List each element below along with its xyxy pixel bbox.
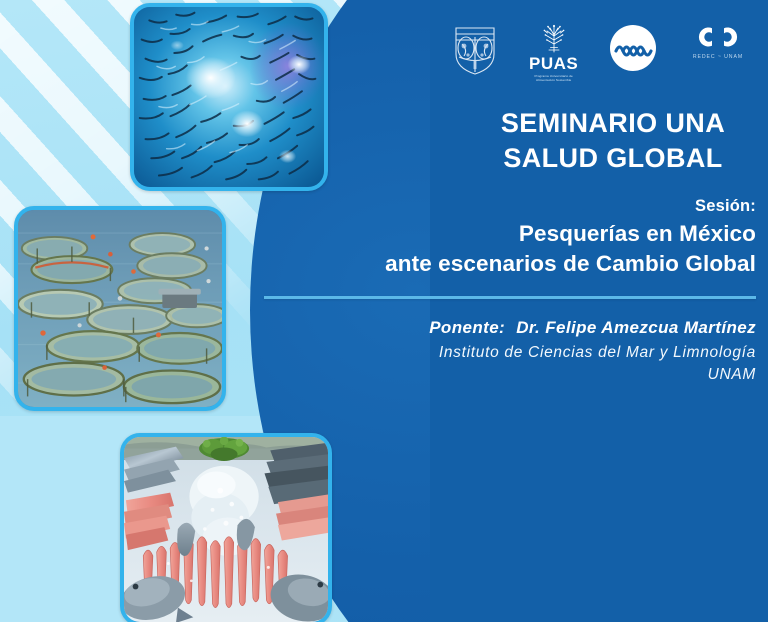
session-label: Sesión: [256,197,756,216]
speaker-institute: Instituto de Ciencias del Mar y Limnolog… [256,344,756,362]
session-title-line-1: Pesquerías en México [256,219,756,249]
puas-logo: PUAS Programa Universitario de Alimentac… [525,24,583,82]
speaker-name: Dr. Felipe Amezcua Martínez [510,318,756,337]
puas-subtitle: Programa Universitario de Alimentación S… [527,74,581,82]
speaker-role-label: Ponente: [429,318,505,337]
waves-circle-logo [609,24,657,72]
puas-wordmark: PUAS [529,55,578,72]
photo-school-of-sardines [130,3,328,191]
session-title-line-2: ante escenarios de Cambio Global [256,249,756,279]
unam-shield-logo [452,24,498,76]
seminar-title-line-1: SEMINARIO UNA [470,106,756,141]
text-block: SEMINARIO UNA SALUD GLOBAL Sesión: Pesqu… [256,106,756,384]
seminar-poster: PUAS Programa Universitario de Alimentac… [0,0,768,622]
logo-row: PUAS Programa Universitario de Alimentac… [452,24,752,86]
seminar-title: SEMINARIO UNA SALUD GLOBAL [256,106,756,175]
seminar-title-line-2: SALUD GLOBAL [470,141,756,176]
session-title: Pesquerías en México ante escenarios de … [256,219,756,280]
photo-fish-market-display [120,433,332,622]
puas-tree-icon [539,24,569,54]
redec-double-c-icon [690,24,746,50]
divider [264,296,756,299]
redec-unam-logo: REDEC ~ UNAM [684,24,752,60]
speaker-line: Ponente: Dr. Felipe Amezcua Martínez [256,318,756,338]
redec-wordmark: REDEC ~ UNAM [693,54,743,60]
photo-aquaculture-pens [14,206,226,411]
speaker-university: UNAM [256,366,756,384]
